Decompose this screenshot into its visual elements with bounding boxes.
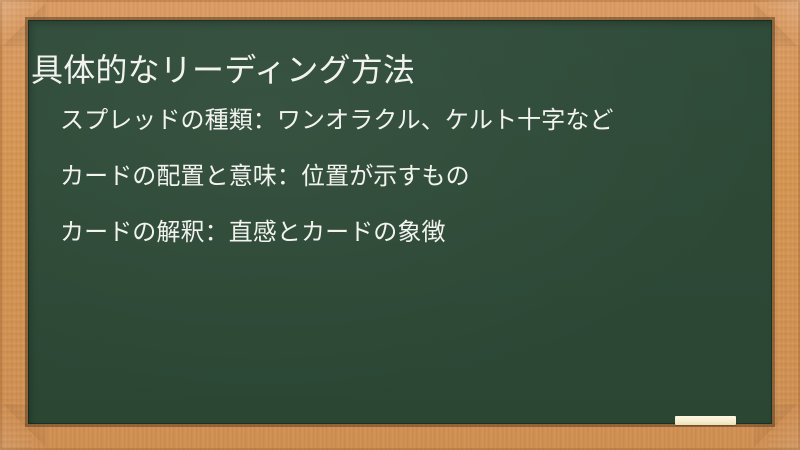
- list-item: スプレッドの種類：ワンオラクル、ケルト十字など: [60, 104, 750, 137]
- list-item: カードの配置と意味：位置が示すもの: [60, 160, 750, 193]
- page-title: 具体的なリーディング方法: [31, 50, 751, 90]
- list-item: カードの解釈：直感とカードの象徴: [60, 216, 750, 249]
- slide-content: 具体的なリーディング方法 スプレッドの種類：ワンオラクル、ケルト十字など カード…: [28, 20, 772, 424]
- bullet-list: スプレッドの種類：ワンオラクル、ケルト十字など カードの配置と意味：位置が示すも…: [60, 104, 750, 249]
- slide-canvas: 具体的なリーディング方法 スプレッドの種類：ワンオラクル、ケルト十字など カード…: [0, 0, 800, 450]
- chalk-stick-icon: [675, 416, 736, 425]
- chalkboard: 具体的なリーディング方法 スプレッドの種類：ワンオラクル、ケルト十字など カード…: [28, 20, 772, 424]
